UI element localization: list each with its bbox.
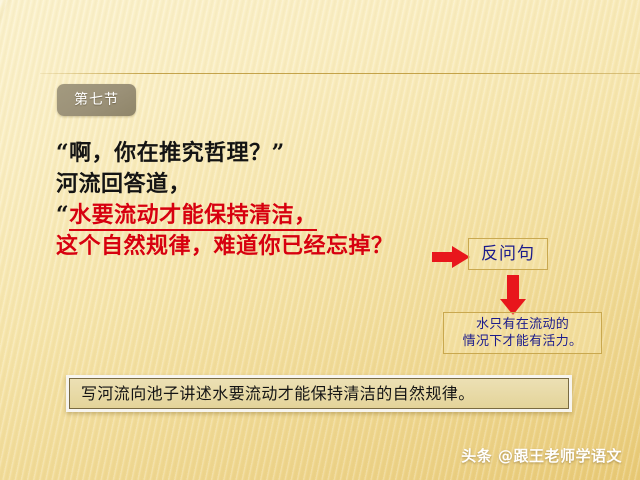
header-divider-rule bbox=[40, 73, 640, 74]
rhetorical-question-callout: 反问句 bbox=[468, 238, 548, 270]
section-badge: 第七节 bbox=[57, 84, 136, 116]
explanation-line-2: 情况下才能有活力。 bbox=[463, 333, 583, 350]
summary-caption-box: 写河流向池子讲述水要流动才能保持清洁的自然规律。 bbox=[66, 375, 572, 412]
watermark: 头条 @跟王老师学语文 bbox=[461, 445, 622, 466]
passage-line-4: 这个自然规律，难道你已经忘掉？ bbox=[56, 231, 476, 262]
explanation-callout: 水只有在流动的 情况下才能有活力。 bbox=[443, 312, 602, 354]
red-right-arrow-shaft bbox=[432, 252, 454, 262]
summary-caption-text: 写河流向池子讲述水要流动才能保持清洁的自然规律。 bbox=[81, 386, 475, 402]
slide-canvas: 第七节 “啊，你在推究哲理？” 河流回答道， “水要流动才能保持清洁， 这个自然… bbox=[0, 0, 640, 480]
red-down-arrow-icon bbox=[500, 275, 526, 315]
rhetorical-question-label: 反问句 bbox=[481, 246, 535, 263]
passage-line-3: “水要流动才能保持清洁， bbox=[56, 200, 476, 231]
passage-line-2: 河流回答道， bbox=[56, 169, 476, 200]
explanation-line-1: 水只有在流动的 bbox=[476, 316, 569, 333]
red-right-arrow-icon bbox=[432, 246, 470, 268]
red-down-arrow-shaft bbox=[507, 275, 519, 301]
passage-line-3-lead-quote: “ bbox=[56, 202, 69, 228]
passage-line-1: “啊，你在推究哲理？” bbox=[56, 138, 476, 169]
quoted-passage: “啊，你在推究哲理？” 河流回答道， “水要流动才能保持清洁， 这个自然规律，难… bbox=[56, 138, 476, 262]
section-badge-label: 第七节 bbox=[74, 93, 119, 107]
passage-line-3-text: 水要流动才能保持清洁， bbox=[69, 202, 317, 231]
summary-caption-inner: 写河流向池子讲述水要流动才能保持清洁的自然规律。 bbox=[69, 378, 569, 409]
